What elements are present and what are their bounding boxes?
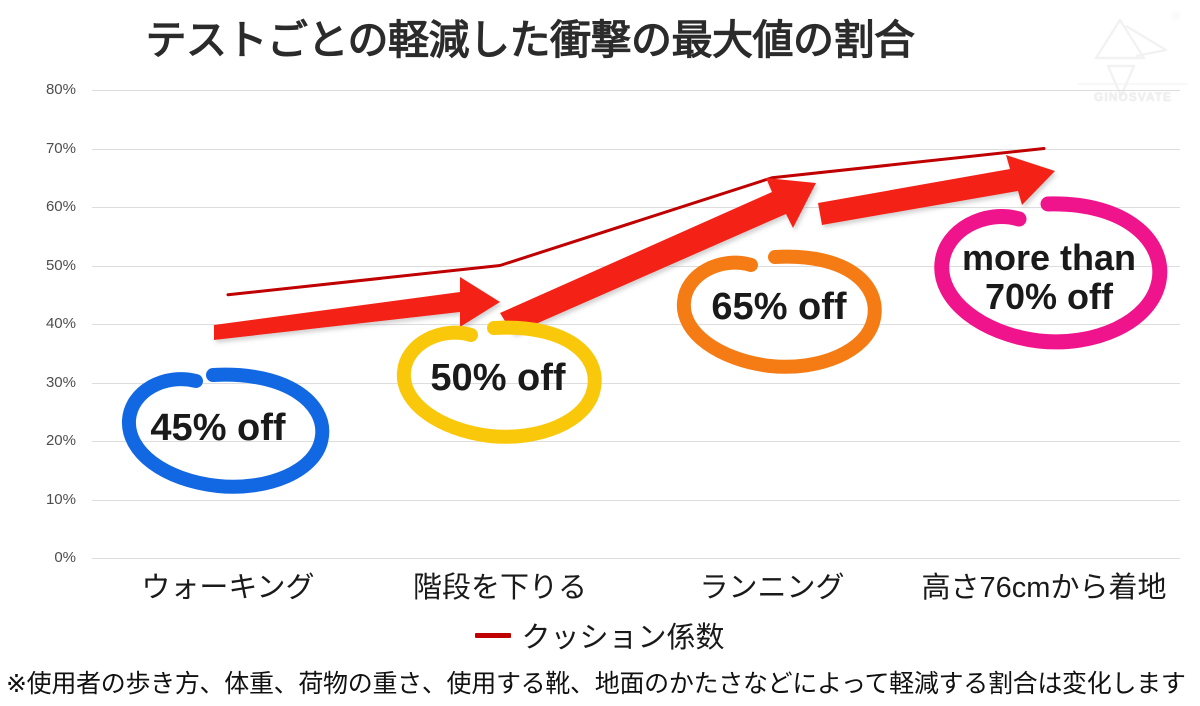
gridline: [92, 500, 1180, 501]
x-axis-tick-label: 高さ76cmから着地: [908, 564, 1180, 606]
page-title: テストごとの軽減した衝撃の最大値の割合: [0, 6, 1060, 66]
x-axis-labels: ウォーキング階段を下りるランニング高さ76cmから着地: [72, 558, 1200, 608]
y-axis-tick-label: 50%: [16, 258, 76, 273]
y-axis-tick-label: 40%: [16, 316, 76, 331]
y-axis-gridlines: 80%70%60%50%40%30%20%10%0%: [92, 90, 1180, 558]
gridline: [92, 207, 1180, 208]
y-axis-tick-label: 30%: [16, 375, 76, 390]
x-axis-tick-label: ウォーキング: [92, 564, 364, 606]
annotation-label-stairs: 50% off: [398, 359, 598, 398]
y-axis-tick-label: 70%: [16, 141, 76, 156]
annotation-label-landing: more than 70% off: [938, 239, 1160, 317]
annotation-label-running: 65% off: [679, 288, 879, 327]
gridline: [92, 383, 1180, 384]
chart-canvas: テストごとの軽減した衝撃の最大値の割合 ® GINOSVATE 80%70%60…: [0, 0, 1200, 706]
y-axis-tick-label: 20%: [16, 433, 76, 448]
y-axis-tick-label: 10%: [16, 492, 76, 507]
y-axis-tick-label: 80%: [16, 82, 76, 97]
chart-footnote: ※使用者の歩き方、体重、荷物の重さ、使用する靴、地面のかたさなどによって軽減する…: [6, 664, 1196, 700]
annotation-label-walking: 45% off: [118, 409, 318, 448]
gridline: [92, 90, 1180, 91]
annotation-label-landing-line1: more than: [938, 239, 1160, 278]
gridline: [92, 149, 1180, 150]
legend-label: クッション係数: [521, 614, 724, 656]
x-axis-tick-label: ランニング: [636, 564, 908, 606]
gridline: [92, 324, 1180, 325]
chart-legend: クッション係数: [0, 614, 1200, 656]
x-axis-tick-label: 階段を下りる: [364, 564, 636, 606]
legend-swatch-icon: [475, 633, 511, 638]
y-axis-tick-label: 60%: [16, 199, 76, 214]
annotation-label-landing-line2: 70% off: [938, 278, 1160, 317]
trademark-icon: ®: [1172, 11, 1180, 23]
y-axis-tick-label: 0%: [16, 550, 76, 565]
